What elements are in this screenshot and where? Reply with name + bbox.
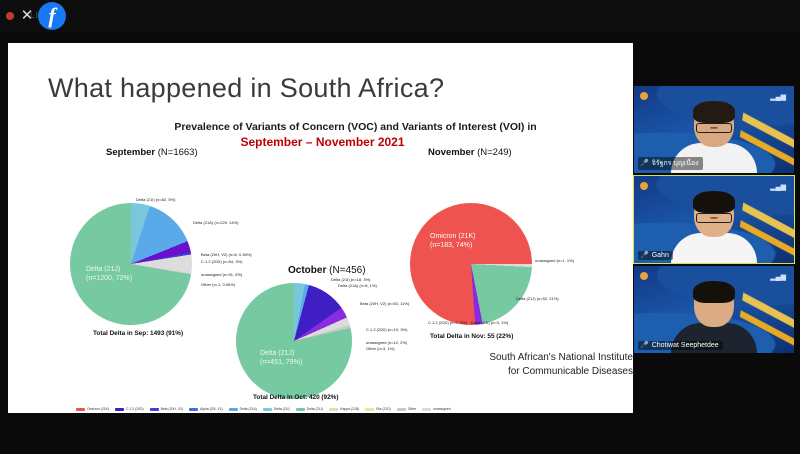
legend-item: Delta (21A) (229, 407, 257, 411)
legend-label: Kappa (21B) (340, 407, 359, 411)
screen-recording-window: ✕ LIVE f What happened in South Africa? … (0, 0, 800, 454)
chart-legend: Omicron (21K)C.1.2 (20D)Beta (20H, V2)Al… (76, 407, 621, 411)
participant-tile[interactable]: ▂▄▆🎤จิรัฐกร บุญเนื่อง (634, 86, 794, 173)
participant-avatar (671, 191, 757, 263)
network-icon: ▂▄▆ (770, 93, 786, 101)
avatar-hair (693, 191, 735, 213)
legend-swatch-icon (189, 408, 198, 411)
september-label-c12: C.1.2 (20D) (n=54, 3%) (201, 259, 242, 265)
november-center-label: Omicron (21K) (n=183, 74%) (430, 232, 476, 251)
legend-item: Eta (21D) (365, 407, 391, 411)
november-label-delta21j: Delta (21J) (n=52, 21%) (516, 296, 559, 302)
october-total-label: Total Delta in Oct: 420 (92%) (253, 394, 338, 401)
org-logo-icon (640, 92, 648, 100)
microphone-icon: 🎤 (640, 160, 649, 167)
legend-swatch-icon (229, 408, 238, 411)
legend-label: Delta (21J) (307, 407, 324, 411)
org-logo-icon (640, 182, 648, 190)
september-label-other: Other (n=1, 0.06%) (201, 282, 235, 288)
legend-label: Delta (21I) (274, 407, 290, 411)
facebook-icon[interactable]: f (38, 2, 66, 30)
legend-swatch-icon (422, 408, 431, 411)
source-note: South African's National Institute for C… (488, 351, 633, 378)
october-pie-chart (236, 283, 352, 399)
october-label-beta: Beta (20H, V2) (n=63, 11%) (360, 301, 409, 307)
org-logo-mark-icon (640, 272, 648, 280)
november-label-c12: C.1.2 (20D) (n=7, 3%) (428, 320, 467, 326)
legend-item: Delta (21I) (263, 407, 290, 411)
november-label-delta21i: Delta (21I) (n=3, 1%) (471, 320, 508, 326)
participant-nameplate: 🎤จิรัฐกร บุญเนื่อง (638, 157, 703, 170)
microphone-icon: 🎤 (640, 342, 649, 349)
legend-swatch-icon (397, 408, 406, 411)
participant-video-grid: ▂▄▆🎤จิรัฐกร บุญเนื่อง▂▄▆🎤Gahn▂▄▆🎤Chotiwa… (634, 86, 794, 356)
november-total-label: Total Delta in Nov: 55 (22%) (430, 333, 513, 340)
participant-nameplate: 🎤Gahn (638, 251, 673, 260)
september-pie-chart (70, 203, 192, 325)
participant-tile[interactable]: ▂▄▆🎤Gahn (634, 176, 794, 263)
org-logo-mark-icon (640, 92, 648, 100)
legend-label: Alpha (20I, V1) (200, 407, 223, 411)
september-label-unassigned: unassigned (n=91, 5%) (201, 272, 242, 278)
avatar-hair (693, 281, 735, 303)
participant-tile[interactable]: ▂▄▆🎤Chotiwat Seephetdee (634, 266, 794, 353)
legend-label: C.1.2 (20D) (126, 407, 144, 411)
legend-swatch-icon (150, 408, 159, 411)
legend-swatch-icon (115, 408, 124, 411)
october-label-delta21i: Delta (21I) (n=18, 3%) (331, 277, 370, 283)
participant-name: จิรัฐกร บุญเนื่อง (652, 158, 699, 169)
microphone-icon: 🎤 (640, 252, 649, 259)
september-center-label: Delta (21J) (n=1200, 72%) (86, 265, 132, 284)
legend-label: unassigned (433, 407, 450, 411)
chart-header-period: September – November 2021 (230, 135, 415, 149)
record-indicator-icon (6, 12, 14, 20)
legend-label: Other (408, 407, 416, 411)
chart-header: Prevalence of Variants of Concern (VOC) … (83, 121, 628, 133)
glasses-icon (696, 123, 732, 133)
legend-label: Eta (21D) (376, 407, 391, 411)
october-label-other: Other (n=3, 1%) (366, 346, 395, 352)
org-logo-icon (640, 272, 648, 280)
avatar-body (671, 233, 757, 263)
legend-item: Omicron (21K) (76, 407, 109, 411)
october-label-c12: C.1.2 (20D) (n=19, 3%) (366, 327, 407, 333)
october-pie-title: October (N=456) (288, 265, 366, 276)
november-label-unassigned: unassigned (n=1, 1%) (535, 258, 574, 264)
participant-name: Chotiwat Seephetdee (652, 342, 719, 349)
october-label-unassigned: unassigned (n=12, 2%) (366, 340, 407, 346)
september-label-delta21i: Delta (21I) (n=82, 5%) (136, 197, 175, 203)
legend-item: Kappa (21B) (329, 407, 359, 411)
november-pie-title: November (N=249) (428, 147, 512, 158)
legend-item: unassigned (422, 407, 450, 411)
legend-swatch-icon (365, 408, 374, 411)
november-pie-chart (410, 203, 532, 325)
legend-item: Other (397, 407, 416, 411)
legend-swatch-icon (76, 408, 85, 411)
october-label-delta21a: Delta (21A) (n=8, 1%) (338, 283, 377, 289)
legend-label: Omicron (21K) (87, 407, 109, 411)
october-center-label: Delta (21J) (n=451, 79%) (260, 349, 302, 368)
network-icon: ▂▄▆ (770, 183, 786, 191)
september-label-delta21a: Delta (21A) (n=229, 14%) (193, 220, 238, 226)
slide-title: What happened in South Africa? (48, 73, 444, 104)
legend-item: C.1.2 (20D) (115, 407, 144, 411)
legend-item: Alpha (20I, V1) (189, 407, 223, 411)
september-label-beta: Beta (20H, V2) (n=6, 0.36%) (201, 252, 252, 258)
legend-item: Delta (21J) (296, 407, 324, 411)
participant-nameplate: 🎤Chotiwat Seephetdee (638, 341, 723, 350)
participant-name: Gahn (652, 252, 669, 259)
top-toolbar: ✕ LIVE f (0, 0, 800, 33)
org-logo-mark-icon (640, 182, 648, 190)
legend-label: Delta (21A) (240, 407, 257, 411)
avatar-hair (693, 101, 735, 123)
september-pie-title: September (N=1663) (106, 147, 198, 158)
legend-label: Beta (20H, V2) (161, 407, 183, 411)
network-icon: ▂▄▆ (770, 273, 786, 281)
september-total-label: Total Delta in Sep: 1493 (91%) (93, 330, 183, 337)
legend-swatch-icon (329, 408, 338, 411)
glasses-icon (696, 213, 732, 223)
legend-swatch-icon (296, 408, 305, 411)
presentation-slide: What happened in South Africa? Prevalenc… (8, 43, 633, 413)
legend-swatch-icon (263, 408, 272, 411)
legend-item: Beta (20H, V2) (150, 407, 183, 411)
